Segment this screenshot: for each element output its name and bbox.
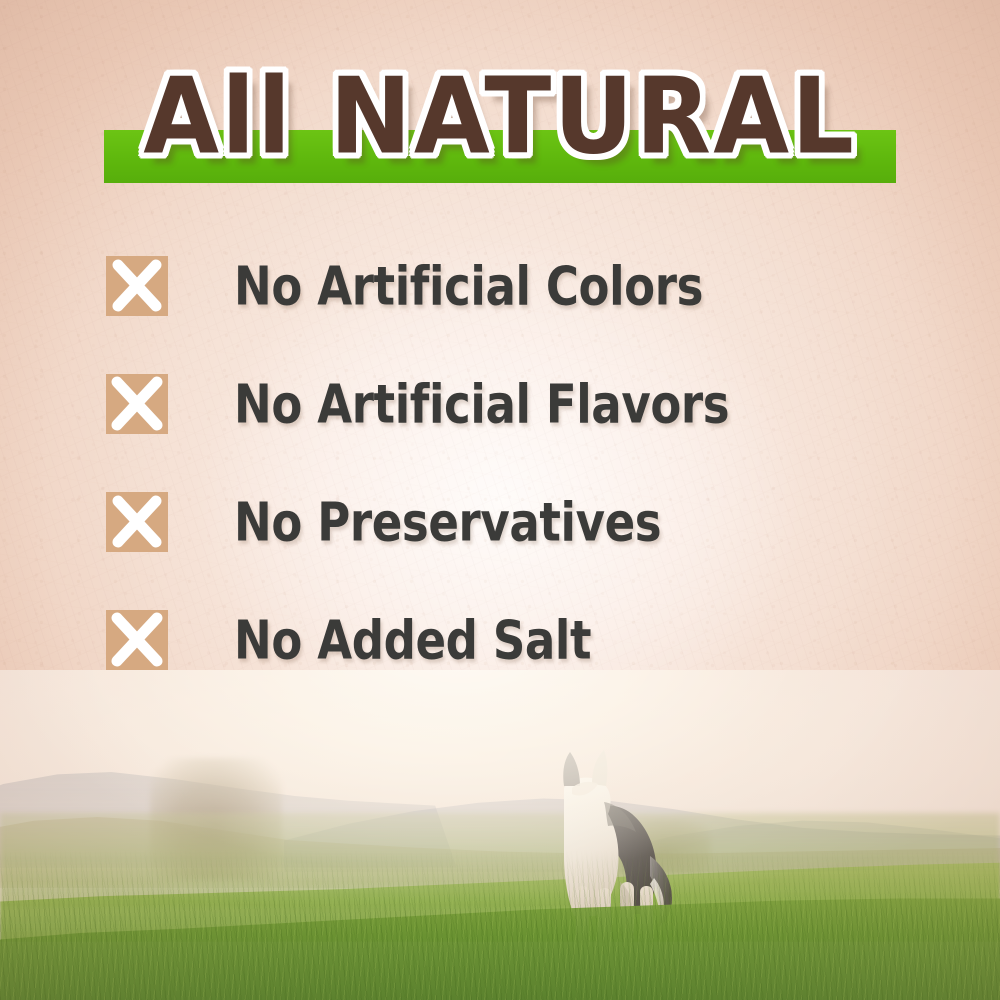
x-mark-icon (106, 492, 168, 552)
x-mark-icon (106, 256, 168, 316)
product-feature-graphic: All NATURAL No Artificial Colors No Arti… (0, 0, 1000, 1000)
list-item: No Artificial Colors (106, 256, 926, 316)
feature-list: No Artificial Colors No Artificial Flavo… (106, 256, 926, 728)
x-mark-icon (106, 374, 168, 434)
list-item-label: No Artificial Flavors (234, 373, 729, 436)
list-item-label: No Artificial Colors (234, 255, 703, 318)
list-item: No Added Salt (106, 610, 926, 670)
list-item: No Artificial Flavors (106, 374, 926, 434)
green-banner (104, 130, 896, 183)
list-item-label: No Preservatives (234, 491, 661, 554)
x-mark-icon (106, 610, 168, 670)
list-item: No Preservatives (106, 492, 926, 552)
list-item-label: No Added Salt (234, 609, 591, 672)
